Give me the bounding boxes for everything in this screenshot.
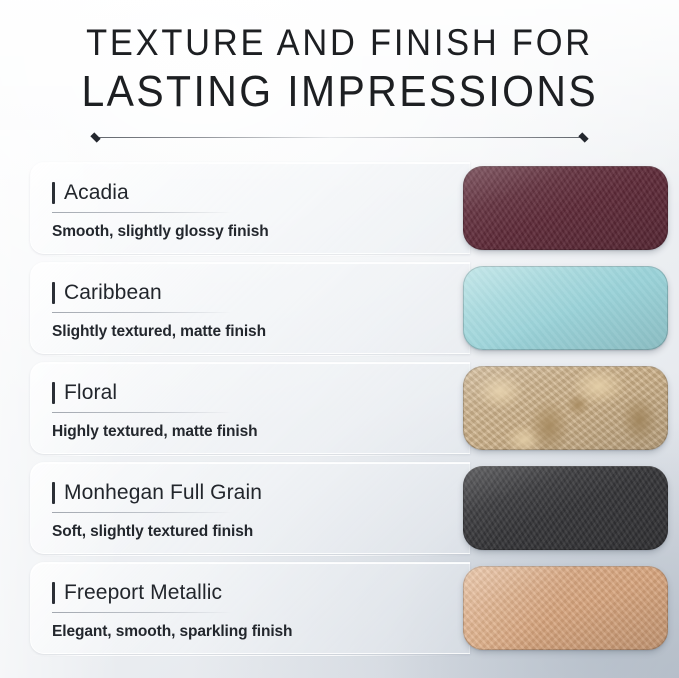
swatch-name-row: Acadia [52, 179, 352, 207]
swatch-name-underline [52, 312, 232, 313]
swatch-row[interactable]: CaribbeanSlightly textured, matte finish [0, 260, 679, 356]
swatch-description: Slightly textured, matte finish [52, 323, 352, 341]
swatch-sample[interactable] [463, 166, 668, 250]
swatch-edge [463, 366, 668, 450]
swatch-sample[interactable] [463, 366, 668, 450]
swatch-name: Floral [64, 381, 117, 405]
card-separator [30, 255, 466, 256]
swatch-info: CaribbeanSlightly textured, matte finish [52, 279, 352, 341]
swatch-name: Monhegan Full Grain [64, 481, 262, 505]
swatch-sample[interactable] [463, 266, 668, 350]
swatch-name-underline [52, 512, 232, 513]
swatch-edge [463, 566, 668, 650]
swatch-info: FloralHighly textured, matte finish [52, 379, 352, 441]
divider-rule [98, 137, 581, 138]
swatch-name: Caribbean [64, 281, 162, 305]
accent-bar-icon [52, 482, 55, 504]
swatch-name-underline [52, 412, 232, 413]
swatch-name: Acadia [64, 181, 129, 205]
swatch-row[interactable]: FloralHighly textured, matte finish [0, 360, 679, 456]
swatch-name: Freeport Metallic [64, 581, 222, 605]
swatch-name-underline [52, 212, 232, 213]
accent-bar-icon [52, 382, 55, 404]
swatch-list: AcadiaSmooth, slightly glossy finishCari… [0, 160, 679, 670]
swatch-sample[interactable] [463, 466, 668, 550]
swatch-sample[interactable] [463, 566, 668, 650]
swatch-row[interactable]: Monhegan Full GrainSoft, slightly textur… [0, 460, 679, 556]
swatch-description: Elegant, smooth, sparkling finish [52, 623, 352, 641]
accent-bar-icon [52, 282, 55, 304]
swatch-info: Freeport MetallicElegant, smooth, sparkl… [52, 579, 352, 641]
swatch-description: Highly textured, matte finish [52, 423, 352, 441]
swatch-name-row: Caribbean [52, 279, 352, 307]
card-separator [30, 455, 466, 456]
swatch-row[interactable]: Freeport MetallicElegant, smooth, sparkl… [0, 560, 679, 656]
swatch-edge [463, 266, 668, 350]
card-separator [30, 355, 466, 356]
page-title-line-1: TEXTURE AND FINISH FOR [86, 24, 593, 61]
swatch-row[interactable]: AcadiaSmooth, slightly glossy finish [0, 160, 679, 256]
swatch-info: AcadiaSmooth, slightly glossy finish [52, 179, 352, 241]
page-header: TEXTURE AND FINISH FOR LASTING IMPRESSIO… [0, 0, 679, 150]
accent-bar-icon [52, 182, 55, 204]
swatch-name-row: Freeport Metallic [52, 579, 352, 607]
page-title-line-2: LASTING IMPRESSIONS [81, 70, 598, 114]
swatch-edge [463, 466, 668, 550]
card-separator [30, 555, 466, 556]
swatch-description: Soft, slightly textured finish [52, 523, 352, 541]
swatch-name-row: Monhegan Full Grain [52, 479, 352, 507]
title-divider [90, 132, 589, 144]
diamond-right-icon [578, 132, 588, 142]
card-separator [30, 655, 466, 656]
swatch-edge [463, 166, 668, 250]
swatch-name-row: Floral [52, 379, 352, 407]
swatch-info: Monhegan Full GrainSoft, slightly textur… [52, 479, 352, 541]
swatch-description: Smooth, slightly glossy finish [52, 223, 352, 241]
accent-bar-icon [52, 582, 55, 604]
swatch-name-underline [52, 612, 232, 613]
